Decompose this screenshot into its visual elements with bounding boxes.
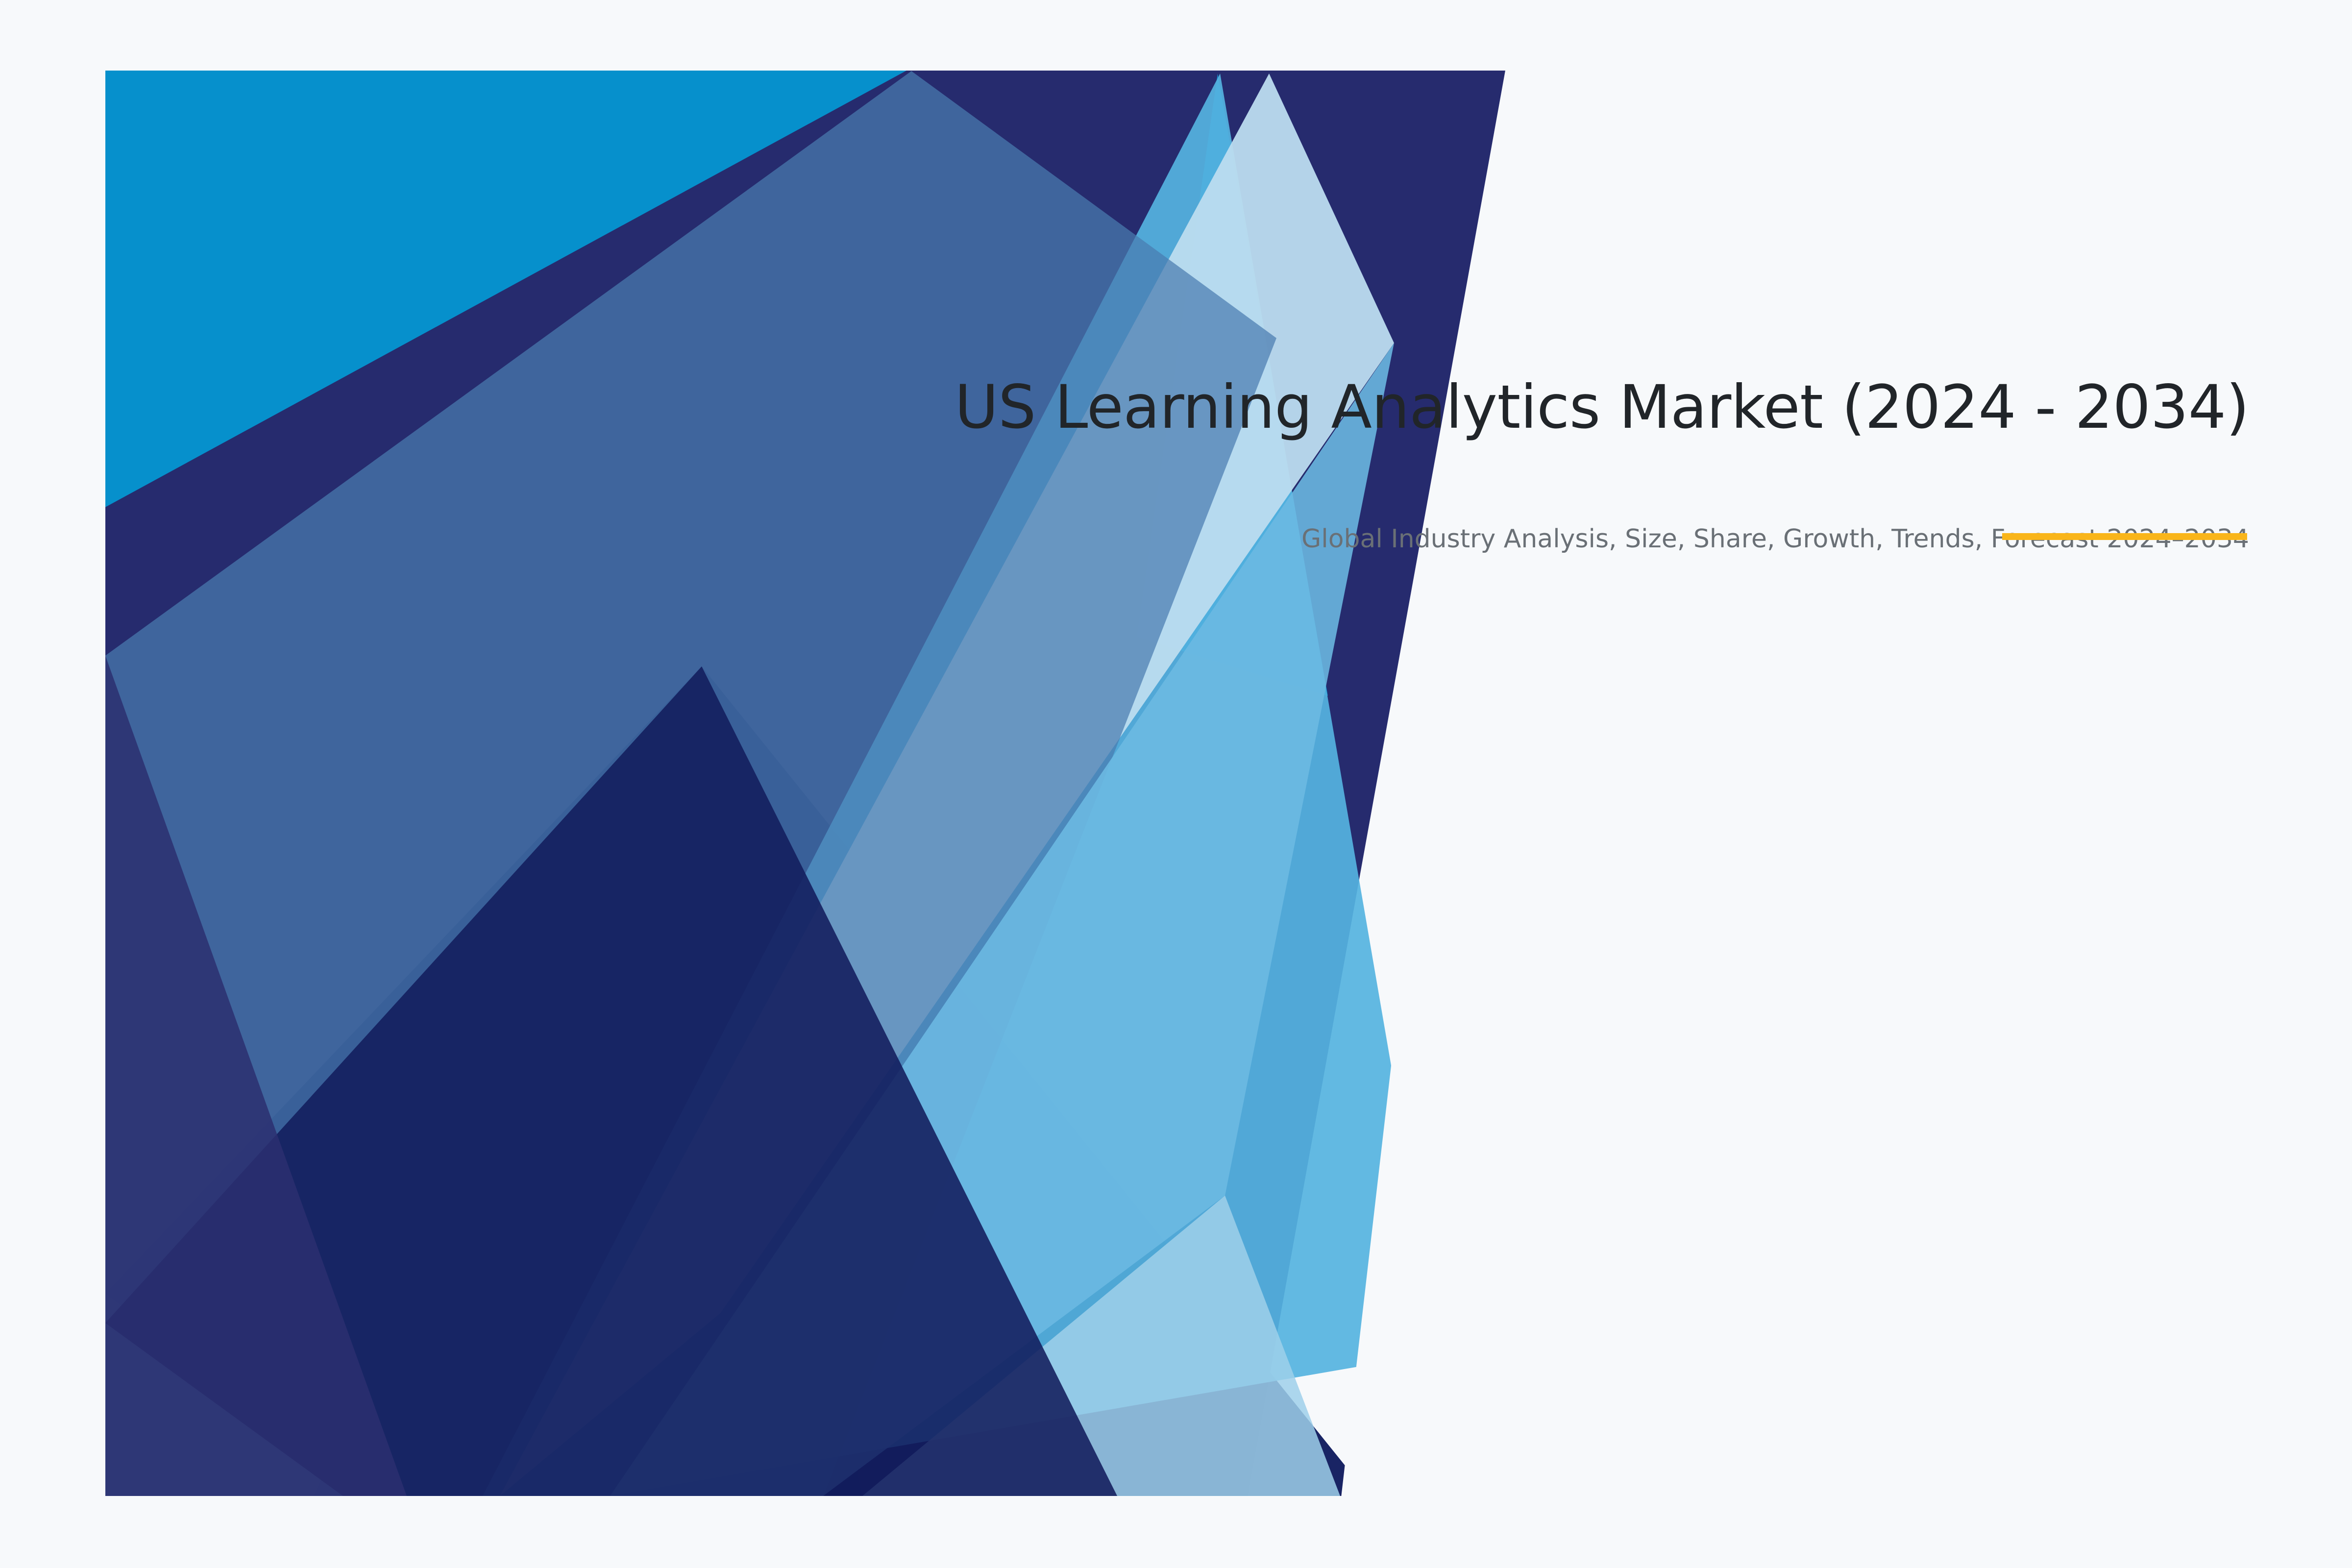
title-text-block: US Learning Analytics Market (2024 - 203… <box>735 372 2249 557</box>
background-band-left <box>0 0 105 1568</box>
title-slide: US Learning Analytics Market (2024 - 203… <box>0 0 2352 1568</box>
navy-body-shape <box>105 71 1505 1496</box>
pale-blue-bottom-triangle <box>862 1196 1340 1496</box>
background-clip-right <box>1235 71 2352 1568</box>
deep-navy-spike-shape <box>314 666 862 1496</box>
background-wedge-right <box>1341 72 2352 1568</box>
sky-blue-band-shape <box>483 73 1441 1496</box>
background-band-bottom <box>0 1496 2352 1568</box>
background-mask-right <box>0 71 2352 1568</box>
title-wrapper: US Learning Analytics Market (2024 - 203… <box>735 372 2249 442</box>
slate-blue-overlay-shape <box>105 71 1276 1496</box>
background-band-top <box>0 0 2352 71</box>
page-title: US Learning Analytics Market (2024 - 203… <box>735 372 2249 442</box>
abstract-angular-polygon-graphic <box>0 0 2352 1568</box>
pale-blue-sheet-shape <box>500 73 1394 1496</box>
deep-navy-foreground-shape <box>105 666 1117 1496</box>
title-accent-underline <box>2002 533 2247 540</box>
navy-left-strip-shape <box>105 656 407 1496</box>
deep-navy-bottom-shape <box>105 666 1370 1496</box>
